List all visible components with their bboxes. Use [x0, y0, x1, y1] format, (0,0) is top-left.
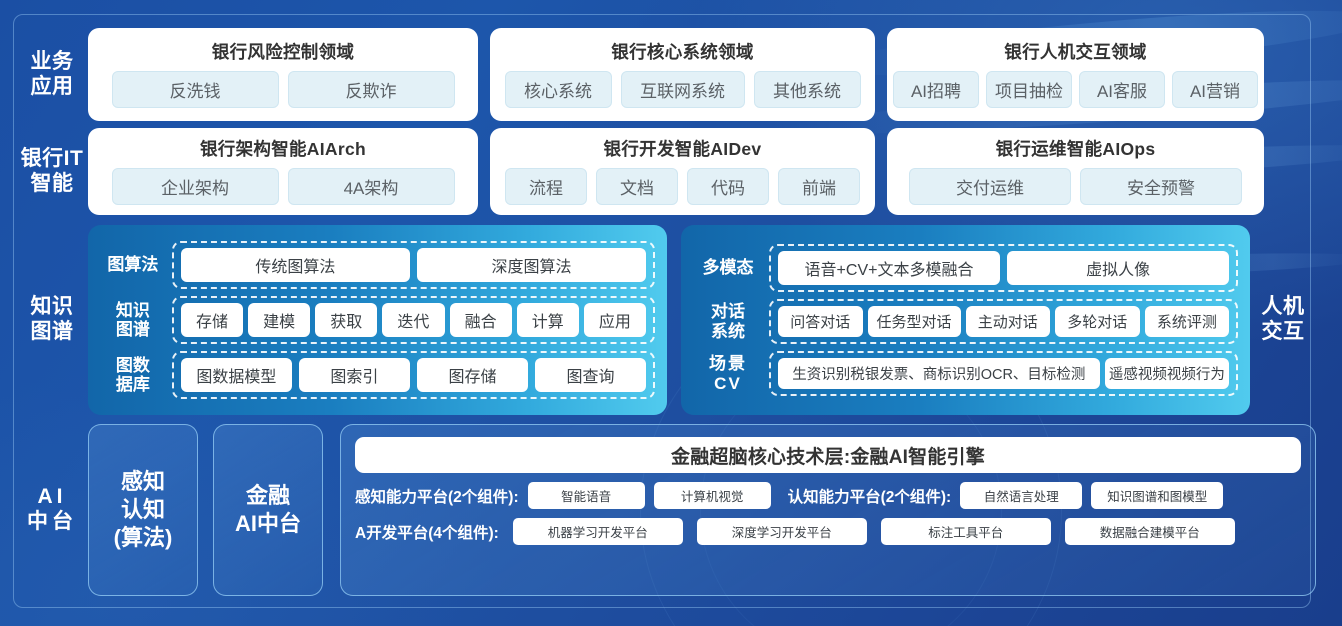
domain-card-aiops[interactable]: 银行运维智能AIOps 交付运维 安全预警	[887, 128, 1264, 215]
kg-group-label-line: 图算法	[107, 255, 158, 274]
platform-row-development: A开发平台(4个组件): 机器学习开发平台 深度学习开发平台 标注工具平台 数据…	[355, 518, 1301, 545]
kg-group-label-line: 知识	[116, 301, 150, 320]
hci-item[interactable]: 任务型对话	[868, 306, 961, 337]
layer-label-line: 图谱	[30, 320, 73, 345]
kg-group-knowledge-graph: 知识 图谱 存储 建模 获取 迭代 融合 计算 应用	[102, 296, 655, 344]
ai-engine-box: 金融超脑核心技术层:金融AI智能引擎 感知能力平台(2个组件): 智能语音 计算…	[340, 424, 1316, 596]
layer-label-line: 业务	[31, 50, 74, 75]
platform-row-capability: 感知能力平台(2个组件): 智能语音 计算机视觉 认知能力平台(2个组件): 自…	[355, 482, 1301, 509]
chip-group: 反洗钱 反欺诈	[112, 71, 455, 108]
domain-card-core-system[interactable]: 银行核心系统领域 核心系统 互联网系统 其他系统	[490, 28, 875, 121]
chip-item[interactable]: 互联网系统	[621, 71, 745, 108]
chip-item[interactable]: 交付运维	[909, 168, 1071, 205]
layer-label-line: 人机	[1262, 295, 1305, 320]
kg-group-graph-database: 图数 据库 图数据模型 图索引 图存储 图查询	[102, 351, 655, 399]
chip-item[interactable]: 项目抽检	[986, 71, 1072, 108]
kg-item[interactable]: 应用	[584, 303, 646, 337]
kg-item[interactable]: 图查询	[535, 358, 646, 392]
chip-item[interactable]: 核心系统	[505, 71, 612, 108]
platform-group-label: 感知能力平台(2个组件):	[355, 485, 519, 507]
layer-label-line: 银行IT	[21, 147, 84, 172]
hci-group-label-line: 多模态	[702, 258, 753, 277]
kg-dashed-container: 传统图算法 深度图算法	[172, 241, 655, 289]
domain-card-aidev[interactable]: 银行开发智能AIDev 流程 文档 代码 前端	[490, 128, 875, 215]
layer-label-business: 业务 应用	[16, 28, 88, 121]
ai-card-finance-platform[interactable]: 金融 AI中台	[213, 424, 323, 596]
chip-group: AI招聘 项目抽检 AI客服 AI营销	[893, 71, 1258, 108]
layer-label-line: 知识	[30, 295, 73, 320]
chip-item[interactable]: 安全预警	[1080, 168, 1242, 205]
hci-group-label-line: CV	[714, 374, 742, 393]
hci-item[interactable]: 问答对话	[778, 306, 863, 337]
platform-button[interactable]: 计算机视觉	[654, 482, 771, 509]
ai-card-line: AI中台	[235, 510, 301, 538]
kg-item[interactable]: 图索引	[299, 358, 410, 392]
kg-group-label-line: 据库	[116, 375, 150, 394]
chip-group: 核心系统 互联网系统 其他系统	[505, 71, 861, 108]
kg-group-label: 知识 图谱	[102, 296, 164, 344]
hci-dashed-container: 语音+CV+文本多模融合 虚拟人像	[769, 244, 1238, 292]
ai-card-line: 认知	[114, 496, 173, 524]
domain-card-title: 银行架构智能AIArch	[200, 136, 366, 161]
chip-item[interactable]: 前端	[778, 168, 860, 205]
platform-group-label: 认知能力平台(2个组件):	[788, 485, 952, 507]
hci-group-label-line: 对话	[711, 302, 745, 321]
platform-button[interactable]: 标注工具平台	[881, 518, 1051, 545]
hci-group-label-line: 系统	[711, 322, 745, 341]
domain-card-title: 银行开发智能AIDev	[604, 136, 762, 161]
kg-group-graph-algorithm: 图算法 传统图算法 深度图算法	[102, 241, 655, 289]
kg-item[interactable]: 迭代	[382, 303, 444, 337]
chip-item[interactable]: 流程	[505, 168, 587, 205]
ai-card-line: 金融	[235, 482, 301, 510]
layer-label-knowledge-graph: 知识 图谱	[16, 225, 88, 415]
platform-button[interactable]: 智能语音	[528, 482, 645, 509]
domain-card-aiarch[interactable]: 银行架构智能AIArch 企业架构 4A架构	[88, 128, 478, 215]
layer-business-application: 业务 应用 银行风险控制领域 反洗钱 反欺诈 银行核心系统领域 核心系统 互联网…	[16, 28, 1316, 121]
kg-item[interactable]: 图存储	[417, 358, 528, 392]
layer-label-line: 交互	[1262, 320, 1305, 345]
kg-group-label: 图数 据库	[102, 351, 164, 399]
kg-dashed-container: 存储 建模 获取 迭代 融合 计算 应用	[172, 296, 655, 344]
ai-card-line: 感知	[114, 468, 173, 496]
layer-label-line: AI	[38, 485, 67, 510]
hci-group-label: 场景 CV	[695, 351, 761, 396]
kg-group-label-line: 图数	[116, 356, 150, 375]
hci-group-dialogue: 对话 系统 问答对话 任务型对话 主动对话 多轮对话 系统评测	[695, 299, 1238, 344]
chip-item[interactable]: 反洗钱	[112, 71, 279, 108]
hci-item[interactable]: 主动对话	[966, 306, 1051, 337]
kg-item[interactable]: 深度图算法	[417, 248, 646, 282]
hci-item[interactable]: 多轮对话	[1055, 306, 1140, 337]
chip-item[interactable]: 反欺诈	[288, 71, 455, 108]
platform-group-label: A开发平台(4个组件):	[355, 521, 499, 543]
layer-label-bank-it: 银行IT 智能	[16, 128, 88, 215]
hci-group-label: 多模态	[695, 244, 761, 292]
engine-title: 金融超脑核心技术层:金融AI智能引擎	[355, 437, 1301, 473]
kg-item[interactable]: 建模	[248, 303, 310, 337]
platform-button[interactable]: 自然语言处理	[960, 482, 1082, 509]
kg-group-label-line: 图谱	[116, 320, 150, 339]
domain-card-title: 银行风险控制领域	[212, 39, 354, 64]
chip-group: 企业架构 4A架构	[112, 168, 455, 205]
chip-item[interactable]: AI招聘	[893, 71, 979, 108]
hci-dashed-container: 生资识别税银发票、商标识别OCR、目标检测 遥感视频视频行为	[769, 351, 1238, 396]
kg-item[interactable]: 存储	[181, 303, 243, 337]
ai-card-line: (算法)	[114, 524, 173, 552]
domain-card-risk-control[interactable]: 银行风险控制领域 反洗钱 反欺诈	[88, 28, 478, 121]
chip-item[interactable]: AI客服	[1079, 71, 1165, 108]
chip-item[interactable]: 4A架构	[288, 168, 455, 205]
platform-button[interactable]: 数据融合建模平台	[1065, 518, 1235, 545]
layer-bank-it-intelligence: 银行IT 智能 银行架构智能AIArch 企业架构 4A架构 银行开发智能AID…	[16, 128, 1316, 215]
kg-item[interactable]: 图数据模型	[181, 358, 292, 392]
hci-item[interactable]: 系统评测	[1145, 306, 1230, 337]
layer-label-line: 应用	[31, 75, 74, 100]
panel-human-computer-interaction: 多模态 语音+CV+文本多模融合 虚拟人像 对话 系统 问答对话 任务型对话	[681, 225, 1250, 415]
ai-card-perception-cognition[interactable]: 感知 认知 (算法)	[88, 424, 198, 596]
kg-item[interactable]: 传统图算法	[181, 248, 410, 282]
chip-group: 交付运维 安全预警	[909, 168, 1242, 205]
layer-label-ai-platform: AI 中台	[16, 424, 88, 596]
hci-item[interactable]: 虚拟人像	[1007, 251, 1229, 285]
kg-item[interactable]: 获取	[315, 303, 377, 337]
chip-item[interactable]: 其他系统	[754, 71, 861, 108]
architecture-diagram: 业务 应用 银行风险控制领域 反洗钱 反欺诈 银行核心系统领域 核心系统 互联网…	[0, 0, 1342, 626]
chip-item[interactable]: 企业架构	[112, 168, 279, 205]
platform-button[interactable]: 深度学习开发平台	[697, 518, 867, 545]
hci-item[interactable]: 遥感视频视频行为	[1105, 358, 1229, 389]
hci-dashed-container: 问答对话 任务型对话 主动对话 多轮对话 系统评测	[769, 299, 1238, 344]
hci-group-scene-cv: 场景 CV 生资识别税银发票、商标识别OCR、目标检测 遥感视频视频行为	[695, 351, 1238, 396]
kg-group-label: 图算法	[102, 241, 164, 289]
chip-group: 流程 文档 代码 前端	[505, 168, 860, 205]
domain-card-title: 银行核心系统领域	[611, 39, 753, 64]
layer-label-line: 智能	[31, 172, 74, 197]
kg-item[interactable]: 融合	[450, 303, 512, 337]
chip-item[interactable]: AI营销	[1172, 71, 1258, 108]
platform-button[interactable]: 机器学习开发平台	[513, 518, 683, 545]
layer-ai-platform: AI 中台 感知 认知 (算法) 金融 AI中台 金融超脑核心技术层:金融AI智…	[16, 424, 1316, 596]
layer-label-line: 中台	[27, 510, 77, 535]
chip-item[interactable]: 文档	[596, 168, 678, 205]
kg-item[interactable]: 计算	[517, 303, 579, 337]
chip-item[interactable]: 代码	[687, 168, 769, 205]
layer-knowledge-and-interaction: 知识 图谱 图算法 传统图算法 深度图算法 知识 图谱	[16, 225, 1316, 415]
domain-card-title: 银行运维智能AIOps	[996, 136, 1156, 161]
panel-knowledge-graph: 图算法 传统图算法 深度图算法 知识 图谱 存储 建模 获取	[88, 225, 667, 415]
hci-item[interactable]: 语音+CV+文本多模融合	[778, 251, 1000, 285]
domain-card-title: 银行人机交互领域	[1004, 39, 1146, 64]
hci-group-multimodal: 多模态 语音+CV+文本多模融合 虚拟人像	[695, 244, 1238, 292]
hci-item[interactable]: 生资识别税银发票、商标识别OCR、目标检测	[778, 358, 1100, 389]
hci-group-label: 对话 系统	[695, 299, 761, 344]
layer-label-human-computer: 人机 交互	[1250, 225, 1316, 415]
domain-card-human-interaction[interactable]: 银行人机交互领域 AI招聘 项目抽检 AI客服 AI营销	[887, 28, 1264, 121]
kg-dashed-container: 图数据模型 图索引 图存储 图查询	[172, 351, 655, 399]
platform-button[interactable]: 知识图谱和图模型	[1091, 482, 1223, 509]
hci-group-label-line: 场景	[709, 354, 747, 373]
